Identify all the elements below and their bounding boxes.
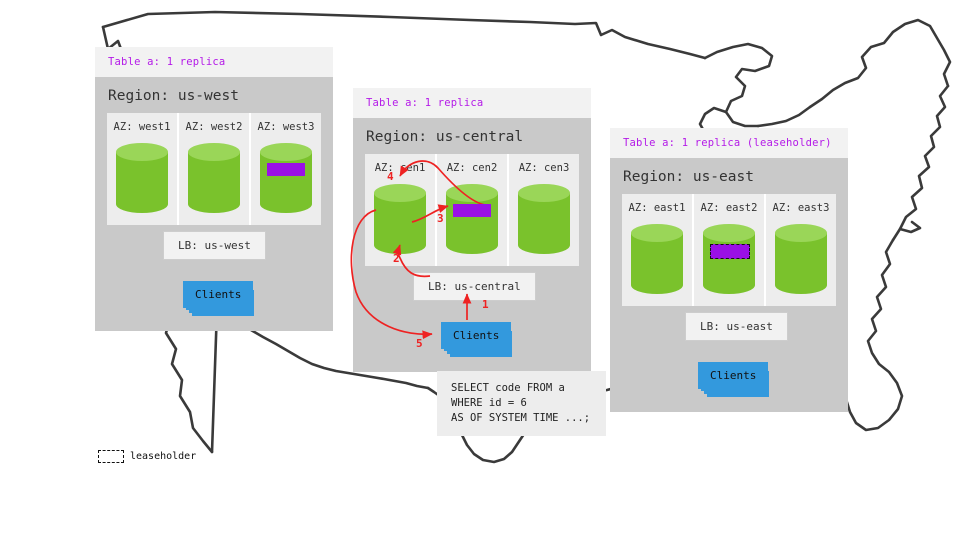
range-replica-leaseholder-east2[interactable] (710, 244, 750, 259)
cylinder-top (631, 224, 683, 242)
node-cylinder-cen2[interactable] (446, 184, 498, 254)
node-cylinder-east2[interactable] (703, 224, 755, 294)
az-row-us-central: AZ: cen1 AZ: cen2 AZ: cen3 (365, 154, 579, 266)
diagram-canvas: Table a: 1 replica Region: us-west AZ: w… (0, 0, 960, 540)
cylinder-top (188, 143, 240, 161)
az-cell-west1[interactable]: AZ: west1 (107, 113, 179, 225)
clients-label[interactable]: Clients (183, 281, 253, 308)
az-label-east3: AZ: east3 (773, 202, 830, 214)
range-replica-west3[interactable] (267, 163, 305, 176)
az-cell-cen2[interactable]: AZ: cen2 (437, 154, 509, 266)
region-name-us-east: Region: us-east (610, 158, 848, 194)
cylinder-top (518, 184, 570, 202)
range-replica-cen2[interactable] (453, 204, 491, 217)
cylinder-top (116, 143, 168, 161)
panel-title-us-east: Table a: 1 replica (leaseholder) (610, 128, 848, 158)
cylinder-top (703, 224, 755, 242)
node-cylinder-east1[interactable] (631, 224, 683, 294)
node-cylinder-west2[interactable] (188, 143, 240, 213)
node-cylinder-cen3[interactable] (518, 184, 570, 254)
cylinder-top (374, 184, 426, 202)
clients-us-central[interactable]: Clients (441, 322, 511, 349)
cylinder-top (775, 224, 827, 242)
dashed-box-icon (98, 450, 124, 463)
legend-label: leaseholder (130, 451, 196, 462)
panel-title-us-west: Table a: 1 replica (95, 47, 333, 77)
node-cylinder-east3[interactable] (775, 224, 827, 294)
legend-leaseholder: leaseholder (98, 450, 196, 463)
az-cell-east1[interactable]: AZ: east1 (622, 194, 694, 306)
region-panel-us-central: Table a: 1 replica Region: us-central AZ… (353, 88, 591, 372)
az-label-cen2: AZ: cen2 (447, 162, 498, 174)
az-label-west3: AZ: west3 (258, 121, 315, 133)
clients-label[interactable]: Clients (698, 362, 768, 389)
panel-title-us-central: Table a: 1 replica (353, 88, 591, 118)
load-balancer-us-east[interactable]: LB: us-east (685, 312, 788, 341)
az-cell-cen1[interactable]: AZ: cen1 (365, 154, 437, 266)
az-label-cen1: AZ: cen1 (375, 162, 426, 174)
az-cell-cen3[interactable]: AZ: cen3 (509, 154, 579, 266)
load-balancer-us-central[interactable]: LB: us-central (413, 272, 536, 301)
node-cylinder-west1[interactable] (116, 143, 168, 213)
cylinder-top (446, 184, 498, 202)
az-cell-west3[interactable]: AZ: west3 (251, 113, 321, 225)
clients-us-west[interactable]: Clients (183, 281, 253, 308)
az-label-east1: AZ: east1 (629, 202, 686, 214)
az-label-cen3: AZ: cen3 (519, 162, 570, 174)
clients-us-east[interactable]: Clients (698, 362, 768, 389)
cylinder-top (260, 143, 312, 161)
region-panel-us-east: Table a: 1 replica (leaseholder) Region:… (610, 128, 848, 412)
az-label-west2: AZ: west2 (186, 121, 243, 133)
az-row-us-west: AZ: west1 AZ: west2 AZ: west3 (107, 113, 321, 225)
az-label-west1: AZ: west1 (114, 121, 171, 133)
node-cylinder-cen1[interactable] (374, 184, 426, 254)
sql-query-box: SELECT code FROM a WHERE id = 6 AS OF SY… (437, 371, 606, 436)
load-balancer-us-west[interactable]: LB: us-west (163, 231, 266, 260)
node-cylinder-west3[interactable] (260, 143, 312, 213)
region-panel-us-west: Table a: 1 replica Region: us-west AZ: w… (95, 47, 333, 331)
region-name-us-central: Region: us-central (353, 118, 591, 154)
az-cell-west2[interactable]: AZ: west2 (179, 113, 251, 225)
region-name-us-west: Region: us-west (95, 77, 333, 113)
az-label-east2: AZ: east2 (701, 202, 758, 214)
az-cell-east3[interactable]: AZ: east3 (766, 194, 836, 306)
az-row-us-east: AZ: east1 AZ: east2 AZ: east3 (622, 194, 836, 306)
clients-label[interactable]: Clients (441, 322, 511, 349)
az-cell-east2[interactable]: AZ: east2 (694, 194, 766, 306)
